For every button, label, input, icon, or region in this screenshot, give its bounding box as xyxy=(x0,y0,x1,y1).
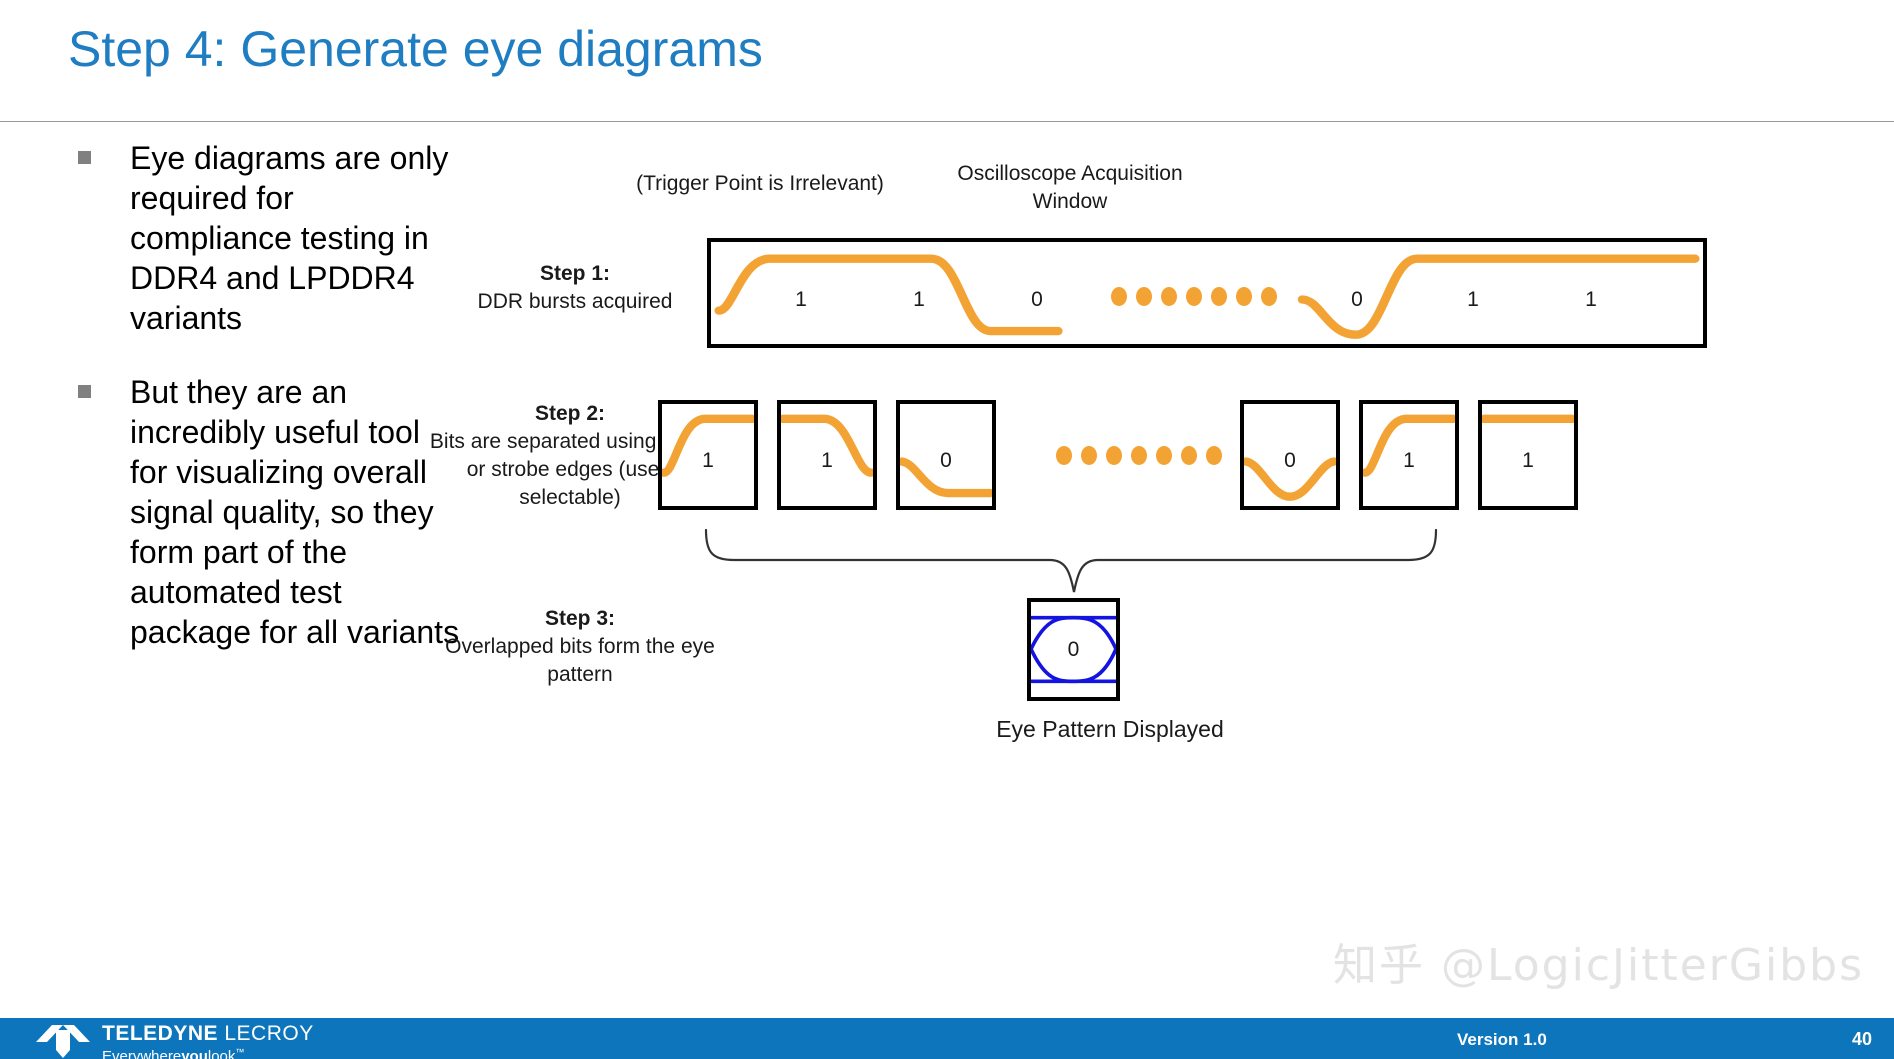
bit-box: 0 xyxy=(896,400,996,510)
step-1-number: Step 1: xyxy=(540,262,610,285)
dot-icon xyxy=(1106,446,1122,465)
bit-label: 0 xyxy=(1284,449,1296,473)
list-item: But they are an incredibly useful tool f… xyxy=(60,372,460,652)
square-bullet-icon xyxy=(78,151,91,164)
bit-box: 1 xyxy=(777,400,877,510)
teledyne-lecroy-logo: TELEDYNE LECROY Everywhereyoulook™ xyxy=(34,1020,314,1059)
logo-sub: LECROY xyxy=(224,1022,313,1045)
bullet-text: Eye diagrams are only required for compl… xyxy=(130,138,460,338)
slide: Step 4: Generate eye diagrams Eye diagra… xyxy=(0,0,1894,1059)
eye-diagram-illustration: (Trigger Point is Irrelevant) Oscillosco… xyxy=(430,150,1850,910)
bit-label: 1 xyxy=(1467,288,1479,312)
bit-label: 1 xyxy=(913,288,925,312)
logo-brand: TELEDYNE xyxy=(102,1022,218,1045)
bit-box: 1 xyxy=(1359,400,1459,510)
version-label: Version 1.0 xyxy=(1457,1030,1547,1050)
bit-label: 1 xyxy=(821,449,833,473)
acquisition-window-note: Oscilloscope Acquisition Window xyxy=(940,160,1200,216)
dot-icon xyxy=(1111,287,1127,306)
bit-label: 0 xyxy=(1031,288,1043,312)
dot-icon xyxy=(1206,446,1222,465)
logo-brand-line: TELEDYNE LECROY xyxy=(102,1023,314,1044)
dot-icon xyxy=(1161,287,1177,306)
dot-icon xyxy=(1186,287,1202,306)
page-title: Step 4: Generate eye diagrams xyxy=(68,20,763,78)
dot-icon xyxy=(1181,446,1197,465)
ellipsis-dots xyxy=(1111,287,1277,306)
dot-icon xyxy=(1211,287,1227,306)
logo-tagline: Everywhereyoulook™ xyxy=(102,1044,314,1059)
dot-icon xyxy=(1056,446,1072,465)
page-number: 40 xyxy=(1852,1029,1872,1050)
dot-icon xyxy=(1136,287,1152,306)
eye-pattern-caption: Eye Pattern Displayed xyxy=(910,715,1310,743)
logo-wordmark: TELEDYNE LECROY Everywhereyoulook™ xyxy=(102,1020,314,1059)
bullet-list: Eye diagrams are only required for compl… xyxy=(60,138,460,686)
list-item: Eye diagrams are only required for compl… xyxy=(60,138,460,338)
acquisition-window-box: 1 1 0 0 1 1 xyxy=(707,238,1707,348)
step-2-number: Step 2: xyxy=(535,402,605,425)
dot-icon xyxy=(1131,446,1147,465)
bit-label: 1 xyxy=(1522,449,1534,473)
watermark: 知乎 @LogicJitterGibbs xyxy=(1333,929,1864,993)
brace-shape xyxy=(702,528,1440,596)
bit-label: 1 xyxy=(1585,288,1597,312)
step-3-label: Step 3: Overlapped bits form the eye pat… xyxy=(440,605,720,689)
footer-bar: TELEDYNE LECROY Everywhereyoulook™ Versi… xyxy=(0,1018,1894,1059)
bit-label: 0 xyxy=(1351,288,1363,312)
bit-label: 1 xyxy=(702,449,714,473)
step-1-description: DDR bursts acquired xyxy=(478,290,673,313)
ellipsis-dots xyxy=(1056,446,1222,465)
tagline-post: look xyxy=(208,1048,236,1059)
bit-box: 0 xyxy=(1240,400,1340,510)
step-3-number: Step 3: xyxy=(545,607,615,630)
bit-box: 1 xyxy=(1478,400,1578,510)
tagline-pre: Everywhere xyxy=(102,1048,181,1059)
step-1-label: Step 1: DDR bursts acquired xyxy=(430,260,720,316)
dot-icon xyxy=(1261,287,1277,306)
dot-icon xyxy=(1081,446,1097,465)
step-3-description: Overlapped bits form the eye pattern xyxy=(445,635,715,686)
bit-label: 1 xyxy=(795,288,807,312)
eye-bit-label: 0 xyxy=(1068,638,1080,662)
trademark-icon: ™ xyxy=(235,1047,244,1057)
bullet-text: But they are an incredibly useful tool f… xyxy=(130,372,460,652)
dot-icon xyxy=(1236,287,1252,306)
trigger-point-note: (Trigger Point is Irrelevant) xyxy=(630,170,890,198)
title-divider xyxy=(0,121,1894,122)
teledyne-logo-icon xyxy=(34,1020,92,1058)
tagline-bold: you xyxy=(181,1048,208,1059)
bit-label: 0 xyxy=(940,449,952,473)
bit-label: 1 xyxy=(1403,449,1415,473)
grouping-brace xyxy=(702,528,1440,596)
dot-icon xyxy=(1156,446,1172,465)
square-bullet-icon xyxy=(78,385,91,398)
eye-pattern-box: 0 xyxy=(1027,598,1120,701)
bit-box: 1 xyxy=(658,400,758,510)
